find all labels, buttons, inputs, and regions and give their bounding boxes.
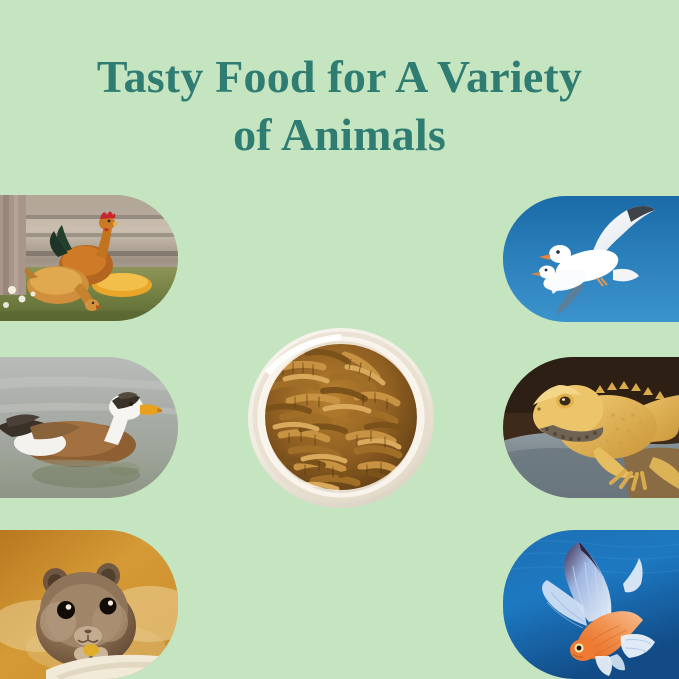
- betta-fish-image: [503, 530, 679, 679]
- photo-tile-fish: Orange and white betta fish swimming in …: [503, 530, 679, 679]
- duck-image: [0, 357, 178, 498]
- mealworm-bowl-image: [237, 317, 446, 514]
- photo-tile-hamster: Small brown hamster holding and eating a…: [0, 530, 178, 679]
- photo-tile-chicken: Rooster and hen pecking in a farmyard be…: [0, 195, 178, 321]
- photo-tile-lizard: Yellow bearded dragon lizard resting on …: [503, 357, 679, 498]
- bearded-dragon-image: [503, 357, 679, 498]
- seagull-image: [503, 196, 679, 322]
- photo-tile-duck: Brown and white duck swimming on grey wa…: [0, 357, 178, 498]
- title-line-2: of Animals: [0, 106, 679, 164]
- page-title: Tasty Food for A Variety of Animals: [0, 48, 679, 165]
- photo-tile-mealworm-bowl: White bowl filled with dried mealworms: [237, 317, 446, 514]
- hamster-image: [0, 530, 178, 679]
- chicken-image: [0, 195, 178, 321]
- photo-tile-seagull: Two seagulls flying against a clear blue…: [503, 196, 679, 322]
- title-line-1: Tasty Food for A Variety: [0, 48, 679, 106]
- product-poster: Tasty Food for A Variety of Animals: [0, 0, 679, 679]
